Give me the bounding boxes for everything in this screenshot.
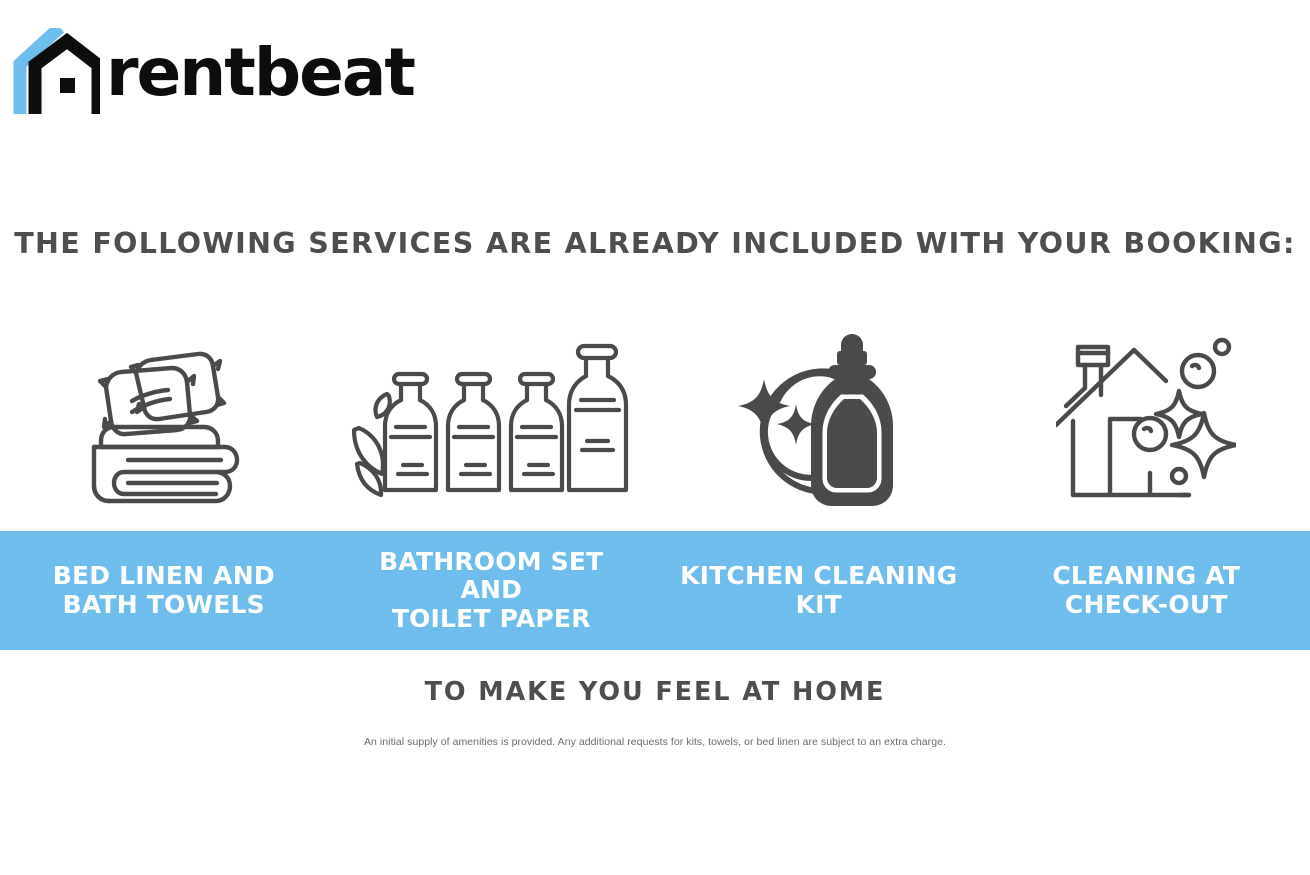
- service-label-bathroom-set: BATHROOM SET AND TOILET PAPER: [346, 548, 638, 633]
- service-icon-cell-bed-linen: [0, 318, 328, 523]
- footer-subhead: TO MAKE YOU FEEL AT HOME: [0, 678, 1310, 707]
- footer-fineprint: An initial supply of amenities is provid…: [0, 736, 1310, 750]
- service-label-bed-linen: BED LINEN AND BATH TOWELS: [18, 562, 310, 619]
- service-label-cell-checkout-cleaning: CLEANING AT CHECK-OUT: [983, 562, 1310, 619]
- service-icon-row: [0, 318, 1310, 523]
- sparkling-house-icon: [1056, 333, 1236, 509]
- service-icon-cell-bathroom-set: [328, 318, 656, 523]
- service-label-checkout-cleaning: CLEANING AT CHECK-OUT: [1001, 562, 1293, 619]
- brand-logo[interactable]: rentbeat: [8, 28, 414, 114]
- service-label-cell-kitchen-kit: KITCHEN CLEANING KIT: [655, 562, 983, 619]
- page-headline: THE FOLLOWING SERVICES ARE ALREADY INCLU…: [0, 228, 1310, 261]
- service-label-cell-bed-linen: BED LINEN AND BATH TOWELS: [0, 562, 328, 619]
- service-label-band: BED LINEN AND BATH TOWELS BATHROOM SET A…: [0, 531, 1310, 650]
- house-logo-icon: [8, 28, 100, 114]
- detergent-bottle-with-sparkling-plate-icon: [736, 333, 902, 509]
- brand-wordmark: rentbeat: [106, 40, 414, 106]
- service-label-kitchen-kit: KITCHEN CLEANING KIT: [673, 562, 965, 619]
- service-icon-cell-checkout-cleaning: [983, 318, 1310, 523]
- pillows-and-folded-towels-icon: [80, 331, 248, 511]
- service-icon-cell-kitchen-kit: [655, 318, 983, 523]
- toiletry-bottles-with-leaves-icon: [351, 338, 631, 503]
- service-label-cell-bathroom-set: BATHROOM SET AND TOILET PAPER: [328, 548, 656, 633]
